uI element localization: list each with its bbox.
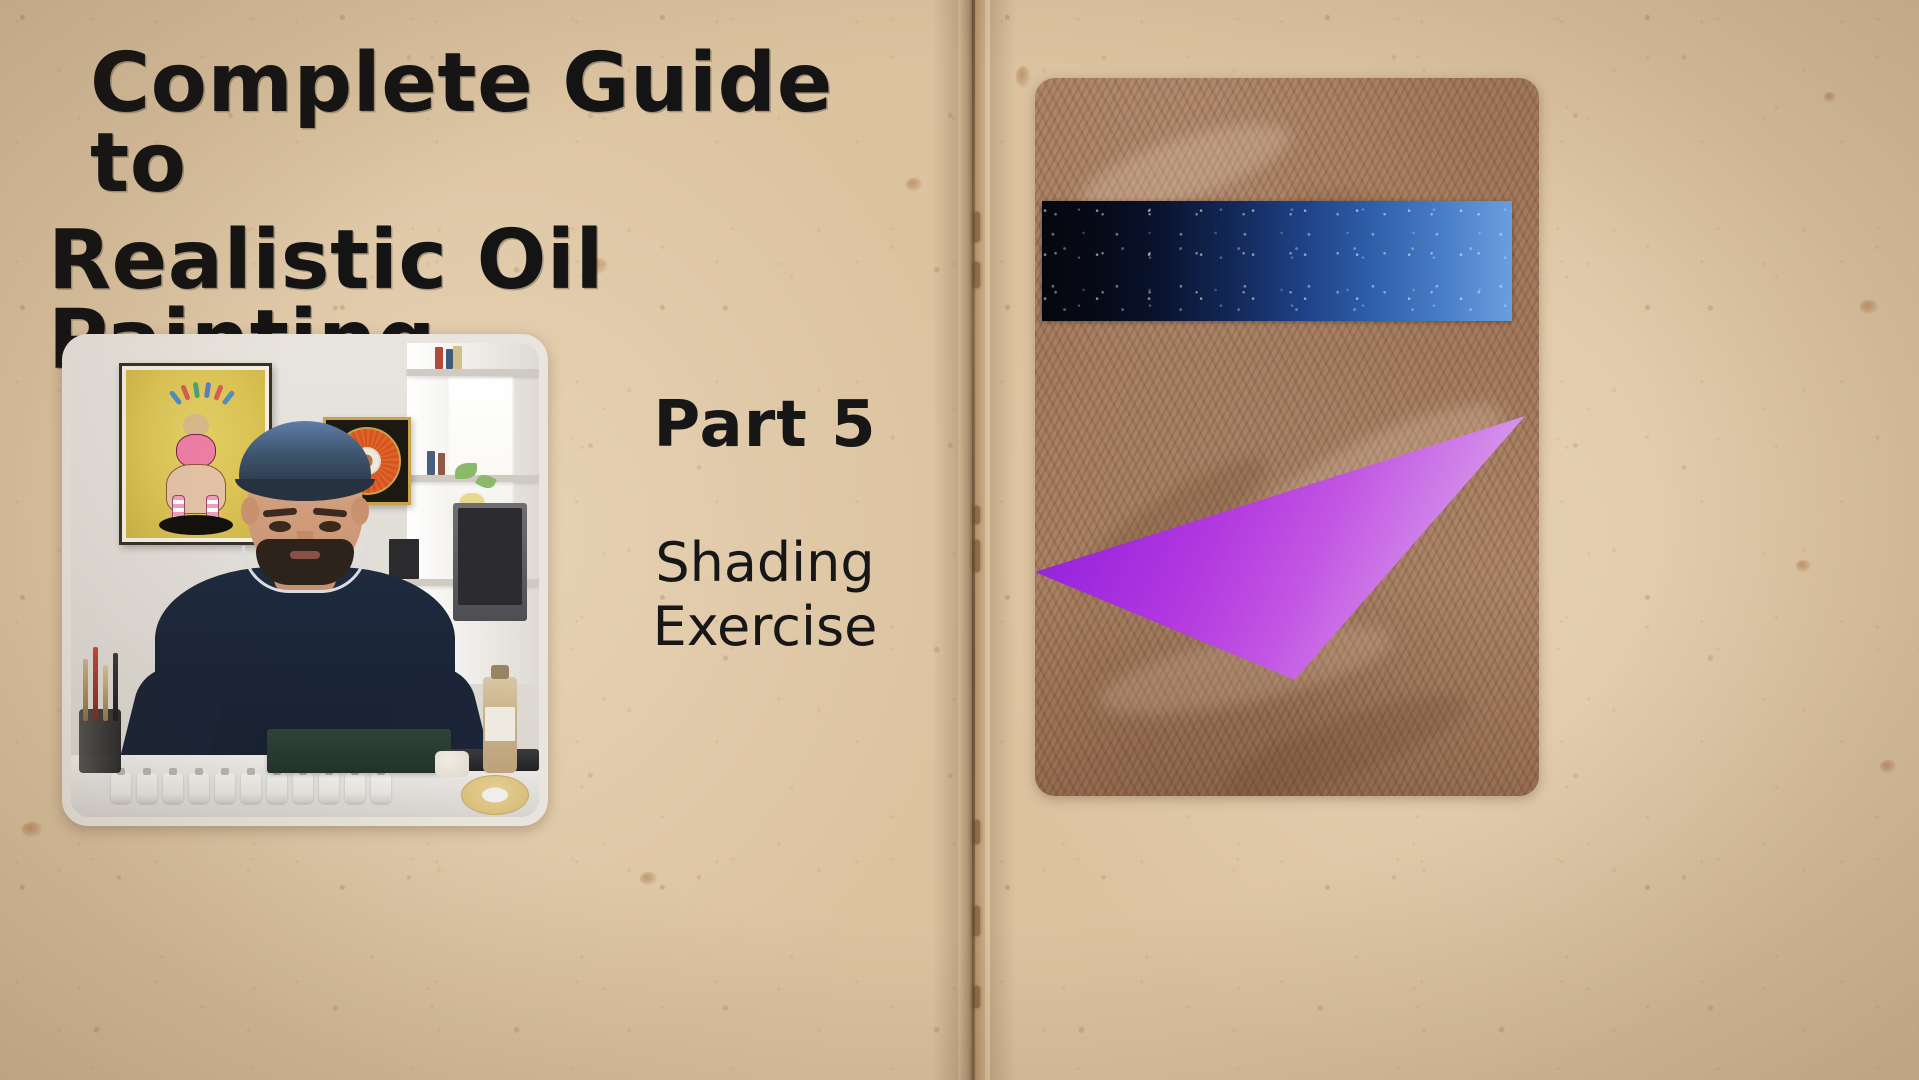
eyebrow-left [263, 507, 297, 517]
paint-tube [189, 773, 209, 803]
eye-left [269, 521, 291, 532]
book-stitch [973, 906, 980, 936]
wood-brush-streak [1213, 675, 1477, 796]
eye-right [319, 521, 341, 532]
eyebrow-right [313, 507, 347, 517]
masking-tape-roll [461, 775, 529, 815]
paint-tube [293, 773, 313, 803]
paint-tube [319, 773, 339, 803]
page-title: Complete Guide to Realistic Oil Painting [48, 44, 948, 381]
paint-tube [163, 773, 183, 803]
title-line-1: Complete Guide to [90, 44, 948, 205]
bar-paint-speckle [1042, 201, 1512, 321]
paint-tube [111, 773, 131, 803]
studio-monitor [453, 503, 527, 621]
head [247, 435, 363, 577]
book-stitch [973, 986, 980, 1008]
paint-tube [345, 773, 365, 803]
book-stitch [973, 262, 980, 288]
book-stitch [973, 506, 980, 524]
cap-brim [235, 479, 375, 501]
paint-tube [137, 773, 157, 803]
part-subtitle-line-1: Shading [600, 531, 930, 595]
paint-tube [241, 773, 261, 803]
medium-bottle [483, 677, 517, 773]
thumbnail-canvas: Complete Guide to Realistic Oil Painting… [0, 0, 1919, 1080]
paint-tube [267, 773, 287, 803]
book-stitch [973, 540, 980, 572]
crown-ray [193, 382, 200, 399]
instructor-photo [71, 343, 539, 817]
book-stitch [973, 820, 980, 844]
part-subtitle: Shading Exercise [600, 531, 930, 658]
value-gradient-bar [1042, 201, 1512, 321]
shelf-board [407, 369, 539, 376]
ear-left [241, 497, 259, 525]
palette-tray [267, 729, 451, 773]
monitor-screen [458, 508, 522, 605]
paintbrush [113, 653, 118, 721]
part-subtitle-line-2: Exercise [600, 595, 930, 659]
crown-ray [204, 382, 211, 399]
instructor-photo-card [62, 334, 548, 826]
bottle-cap [491, 665, 509, 679]
ear-right [351, 497, 369, 525]
crown-ray [180, 384, 191, 401]
tape-hole [482, 788, 508, 803]
paintbrush [83, 659, 88, 721]
book-gutter [958, 0, 990, 1080]
crown-ray [222, 390, 236, 406]
shelf-books [435, 347, 443, 369]
beard [256, 539, 354, 585]
paint-tube [371, 773, 391, 803]
book-stitch [973, 212, 980, 242]
mouth [290, 551, 320, 559]
paintbrush [93, 647, 98, 721]
part-number: Part 5 [600, 392, 930, 459]
part-label-block: Part 5 Shading Exercise [600, 392, 930, 659]
figure-head [183, 414, 209, 436]
small-jar [435, 751, 469, 777]
shelf-books [446, 349, 453, 369]
shelf-books [453, 346, 462, 369]
paint-tube [215, 773, 235, 803]
bottle-label [485, 707, 515, 741]
paintbrush [103, 665, 108, 721]
crown-ray [169, 390, 183, 406]
crown-ray [213, 384, 224, 401]
